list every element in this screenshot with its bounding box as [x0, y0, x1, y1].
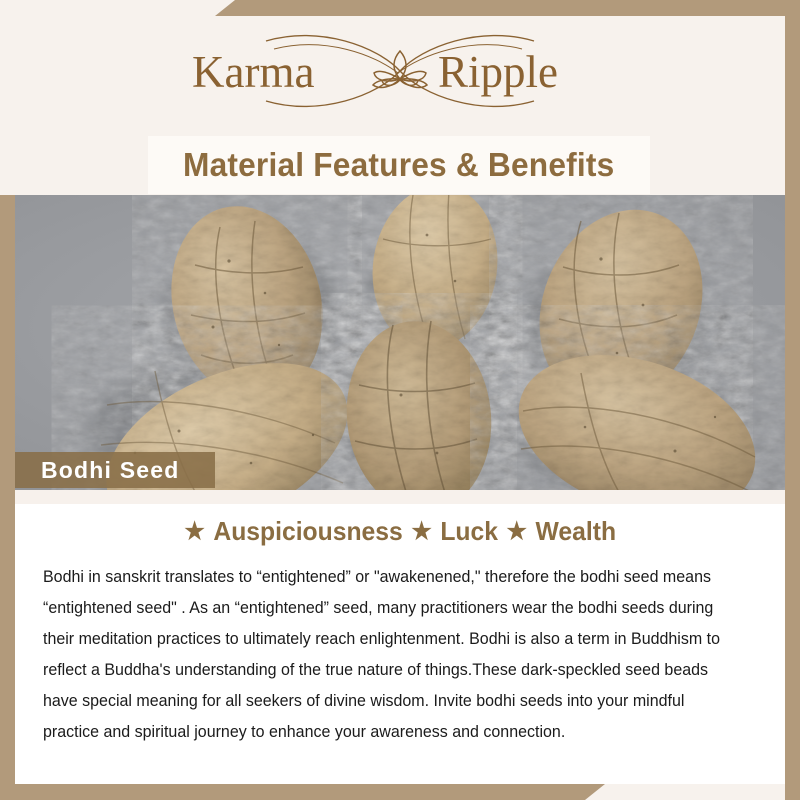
frame-accent-right [785, 0, 800, 800]
brand-name-right: Ripple [438, 47, 558, 97]
frame-accent-left [0, 195, 15, 800]
section-title-band: Material Features & Benefits [148, 136, 650, 194]
brand-logo: Karma Ripple [0, 28, 800, 113]
description-panel: ★ Auspiciousness ★ Luck ★ Wealth Bodhi i… [15, 490, 785, 784]
brand-logo-svg: Karma Ripple [170, 29, 630, 113]
star-icon: ★ [411, 520, 431, 544]
product-photo-illustration [15, 195, 785, 490]
benefits-row: ★ Auspiciousness ★ Luck ★ Wealth [15, 516, 785, 547]
star-icon: ★ [184, 520, 204, 544]
benefit-label-auspiciousness: Auspiciousness [213, 516, 402, 547]
benefit-label-wealth: Wealth [535, 516, 616, 547]
brand-name-left: Karma [192, 47, 314, 97]
panel-divider [15, 490, 785, 504]
frame-accent-bottom [0, 784, 605, 800]
frame-accent-top [215, 0, 800, 16]
poster-page: Karma Ripple Material Features & Benefit… [0, 0, 800, 800]
star-icon: ★ [506, 520, 526, 544]
status-badge-label: Bodhi Seed [15, 457, 180, 484]
benefit-label-luck: Luck [440, 516, 498, 547]
description-text: Bodhi in sanskrit translates to “entight… [43, 562, 734, 748]
page-title: Material Features & Benefits [183, 146, 614, 184]
status-badge: Bodhi Seed [15, 452, 215, 488]
product-photo [15, 195, 785, 490]
